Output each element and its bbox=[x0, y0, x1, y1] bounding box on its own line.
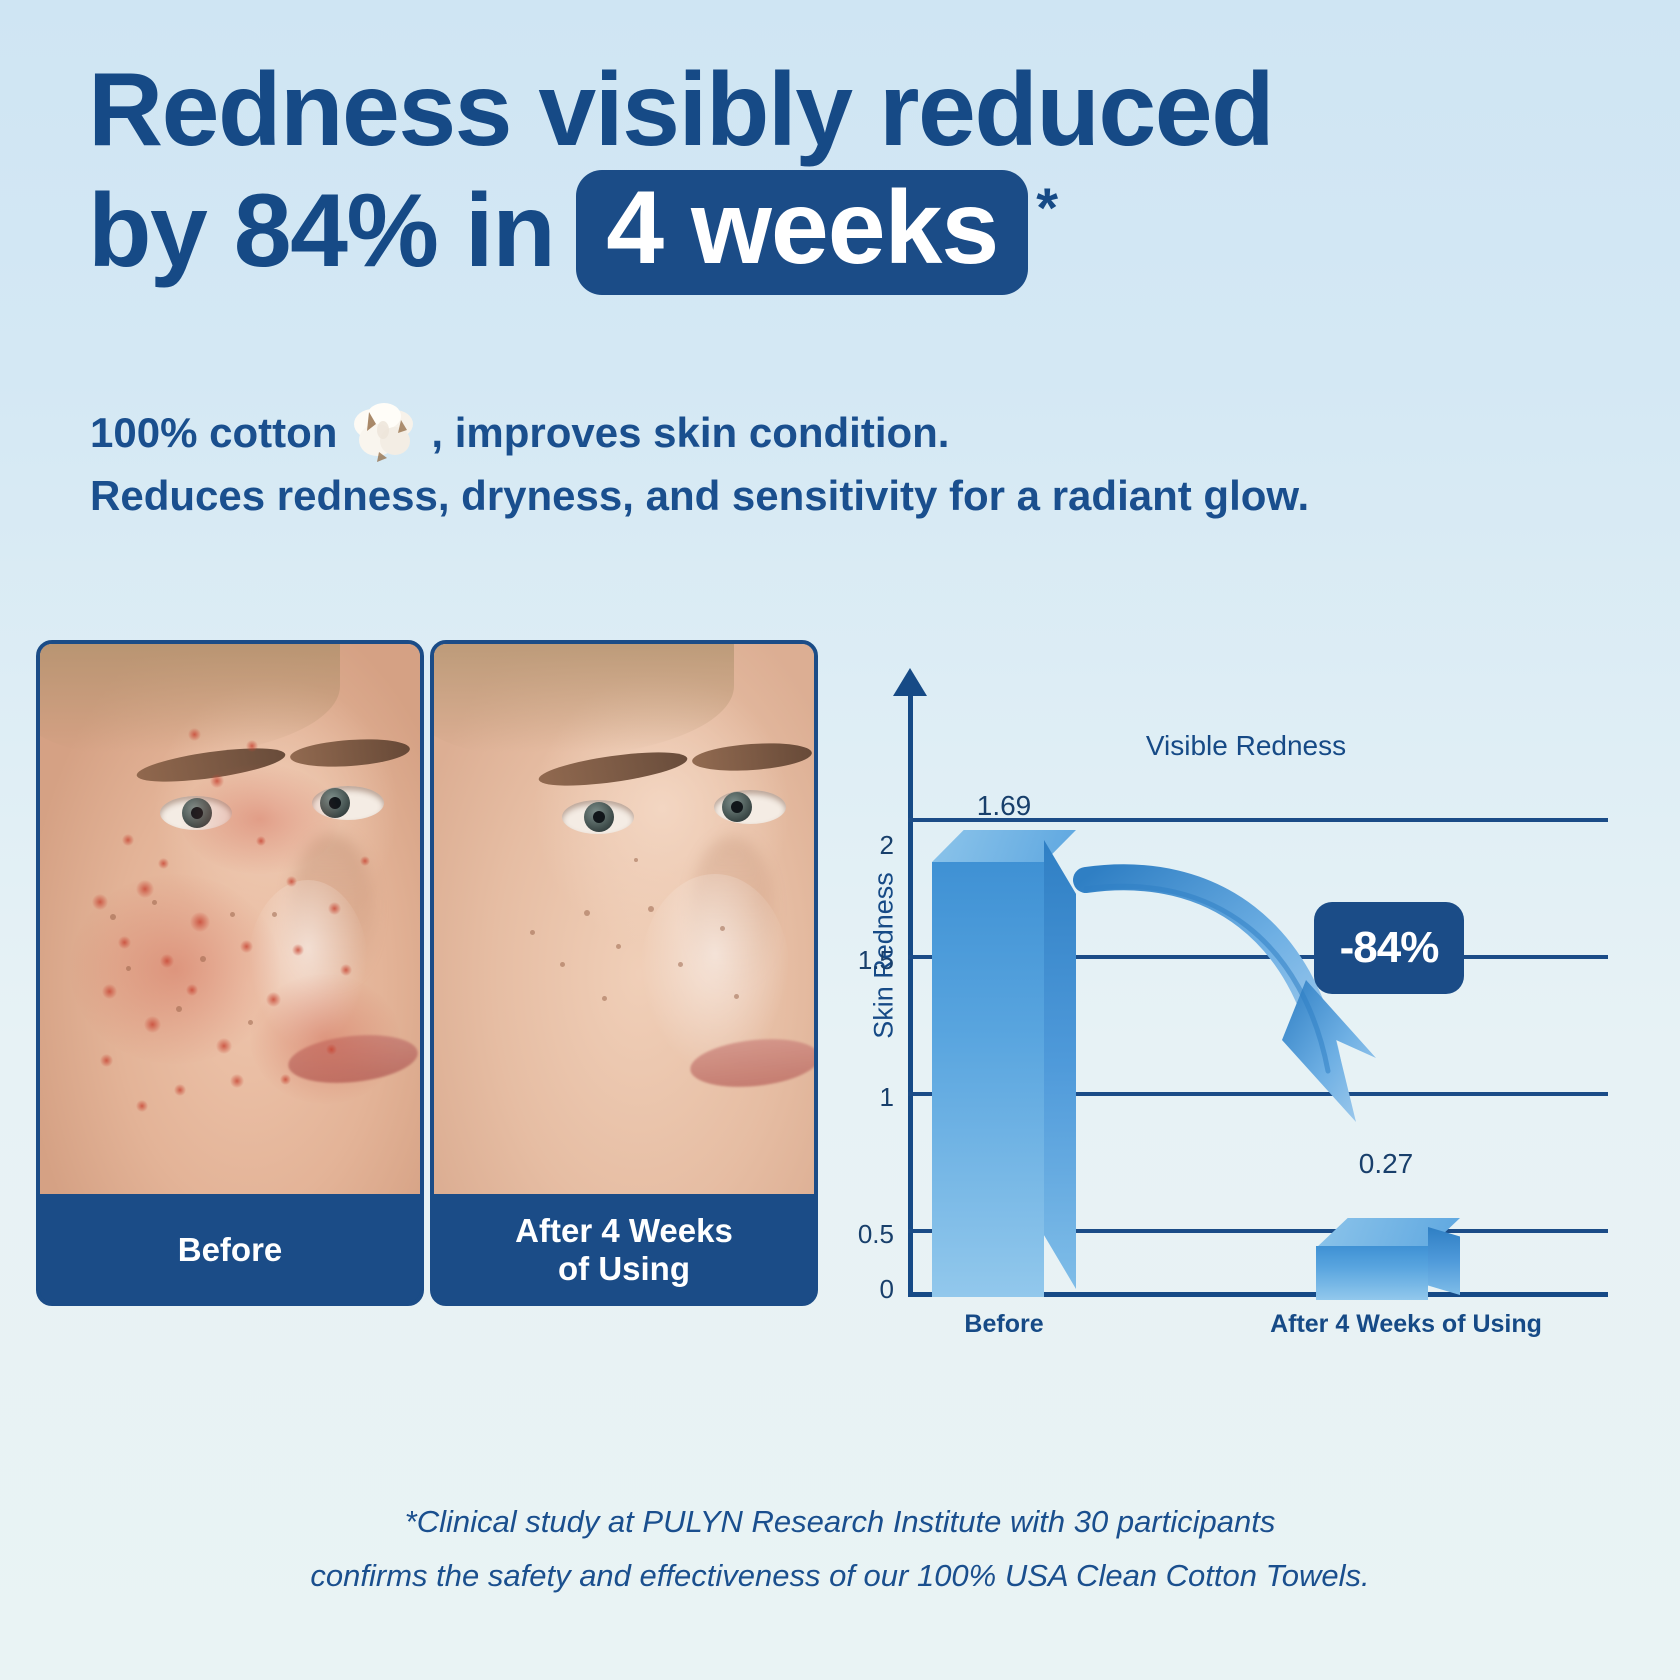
headline-line-2-prefix: by 84% in bbox=[88, 173, 554, 291]
bar-before-value: 1.69 bbox=[924, 790, 1084, 822]
xlabel-before: Before bbox=[924, 1310, 1084, 1339]
subheading-line-2: Reduces redness, dryness, and sensitivit… bbox=[90, 466, 1570, 527]
ytick-label-1_5: 1.5 bbox=[836, 945, 894, 976]
weeks-highlight-pill: 4 weeks bbox=[576, 170, 1028, 295]
subheading-line-1: 100% cotton , improves skin condition. bbox=[90, 400, 1570, 466]
bar-before-front bbox=[932, 862, 1044, 1297]
before-photo bbox=[40, 644, 420, 1194]
bar-before bbox=[932, 830, 1076, 1297]
after-caption-line-1: After 4 Weeks bbox=[515, 1212, 733, 1250]
after-caption: After 4 Weeks of Using bbox=[434, 1194, 814, 1306]
subheading-text-before-icon: 100% cotton bbox=[90, 403, 337, 464]
asterisk-marker: * bbox=[1036, 176, 1056, 239]
bar-after-front bbox=[1316, 1246, 1428, 1300]
redness-spots bbox=[40, 644, 420, 1194]
bar-before-top bbox=[932, 830, 1076, 862]
y-axis-line bbox=[908, 694, 913, 1296]
headline-line-1: Redness visibly reduced bbox=[88, 52, 1588, 170]
chart-title: Visible Redness bbox=[1046, 730, 1446, 762]
footnote-line-1: *Clinical study at PULYN Research Instit… bbox=[0, 1495, 1680, 1549]
after-caption-line-2: of Using bbox=[515, 1250, 733, 1288]
ytick-label-2: 2 bbox=[836, 830, 894, 861]
ytick-label-1: 1 bbox=[836, 1082, 894, 1113]
before-photo-card: Before bbox=[36, 640, 424, 1306]
after-photo-card: After 4 Weeks of Using bbox=[430, 640, 818, 1306]
cotton-boll-icon bbox=[343, 400, 425, 466]
before-caption: Before bbox=[40, 1194, 420, 1306]
after-photo bbox=[434, 644, 814, 1194]
ytick-label-0: 0 bbox=[836, 1274, 894, 1305]
footnote-line-2: confirms the safety and effectiveness of… bbox=[0, 1549, 1680, 1603]
bar-after bbox=[1316, 1218, 1460, 1300]
y-axis-arrow-icon bbox=[893, 668, 927, 696]
bar-before-side bbox=[1044, 840, 1076, 1289]
bar-after-side bbox=[1428, 1227, 1460, 1295]
headline-line-2: by 84% in 4 weeks * bbox=[88, 170, 1588, 295]
subheading-block: 100% cotton , improves skin condition. R… bbox=[90, 400, 1570, 527]
reduction-percent-badge: -84% bbox=[1314, 902, 1464, 994]
headline-block: Redness visibly reduced by 84% in 4 week… bbox=[88, 52, 1588, 295]
bar-after-value: 0.27 bbox=[1306, 1148, 1466, 1180]
subheading-text-after-icon: , improves skin condition. bbox=[431, 403, 949, 464]
footnote-block: *Clinical study at PULYN Research Instit… bbox=[0, 1495, 1680, 1604]
redness-bar-chart: Visible Redness Skin Redness 2 1.5 1 0.5… bbox=[836, 690, 1626, 1350]
xlabel-after: After 4 Weeks of Using bbox=[1256, 1310, 1556, 1339]
ytick-label-0_5: 0.5 bbox=[836, 1219, 894, 1250]
